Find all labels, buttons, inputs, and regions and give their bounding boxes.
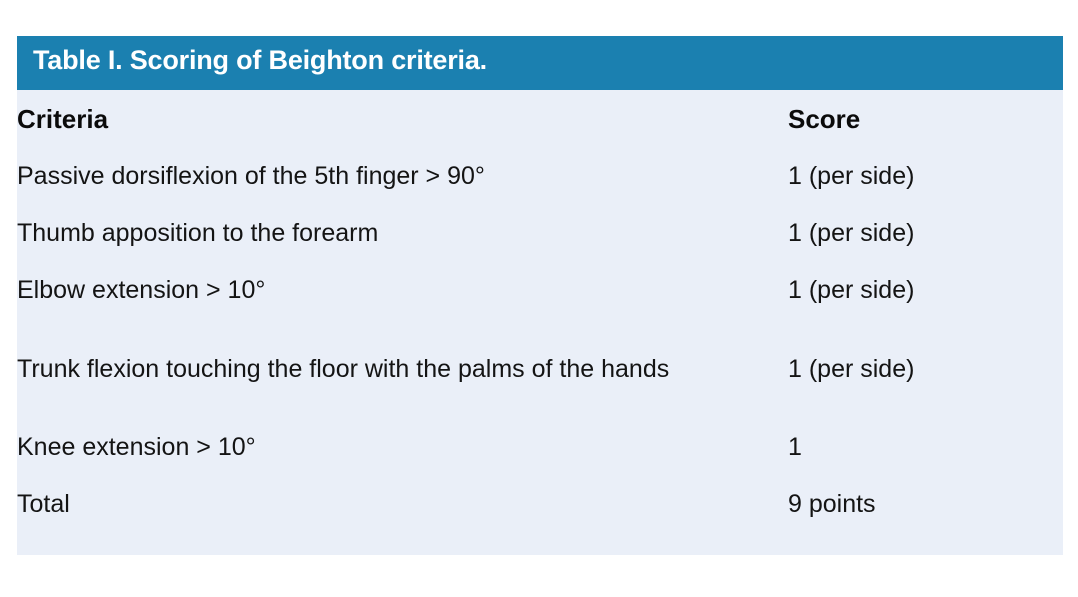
criteria-cell: Knee extension > 10° (17, 419, 788, 476)
score-cell-total: 9 points (788, 476, 1063, 533)
table-header-row: Criteria Score (17, 90, 1063, 148)
criteria-cell: Elbow extension > 10° (17, 262, 788, 319)
table-row: Elbow extension > 10° 1 (per side) (17, 262, 1063, 319)
criteria-cell: Passive dorsiflexion of the 5th finger >… (17, 148, 788, 205)
beighton-criteria-table: Table I. Scoring of Beighton criteria. C… (17, 36, 1063, 555)
criteria-cell: Thumb apposition to the forearm (17, 205, 788, 262)
scoring-table: Criteria Score Passive dorsiflexion of t… (17, 90, 1063, 533)
table-row: Trunk flexion touching the floor with th… (17, 319, 1063, 419)
table-row: Passive dorsiflexion of the 5th finger >… (17, 148, 1063, 205)
score-cell: 1 (per side) (788, 319, 1063, 419)
table-row: Knee extension > 10° 1 (17, 419, 1063, 476)
column-header-score: Score (788, 90, 1063, 148)
table-body: Criteria Score Passive dorsiflexion of t… (17, 90, 1063, 555)
table-caption: Table I. Scoring of Beighton criteria. (17, 36, 1063, 90)
table-row: Thumb apposition to the forearm 1 (per s… (17, 205, 1063, 262)
criteria-cell-total: Total (17, 476, 788, 533)
score-cell: 1 (788, 419, 1063, 476)
score-cell: 1 (per side) (788, 148, 1063, 205)
table-row-total: Total 9 points (17, 476, 1063, 533)
column-header-criteria: Criteria (17, 90, 788, 148)
score-cell: 1 (per side) (788, 205, 1063, 262)
score-cell: 1 (per side) (788, 262, 1063, 319)
criteria-cell: Trunk flexion touching the floor with th… (17, 319, 788, 419)
